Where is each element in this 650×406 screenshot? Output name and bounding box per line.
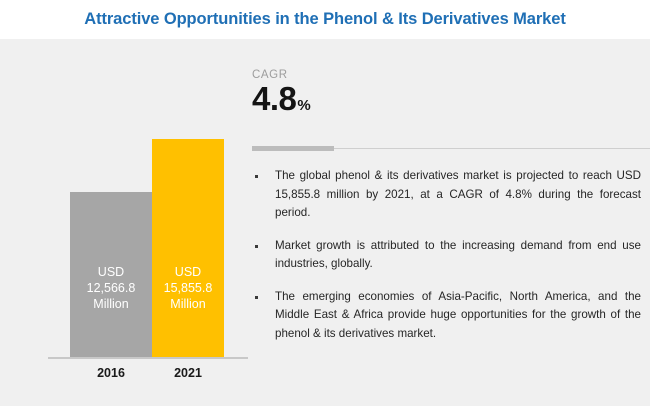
- bar-2016-label-line3: Million: [70, 296, 152, 312]
- cagr-value-row: 4.8 %: [252, 82, 311, 116]
- bullet-point-icon: [255, 175, 258, 178]
- x-axis-label-2021: 2021: [152, 366, 224, 380]
- cagr-unit: %: [297, 97, 310, 114]
- section-divider: [252, 146, 650, 151]
- page-title: Attractive Opportunities in the Phenol &…: [84, 10, 565, 29]
- chart-baseline-axis: [48, 357, 248, 359]
- list-item: The global phenol & its derivatives mark…: [250, 167, 650, 223]
- bullet-list: The global phenol & its derivatives mark…: [250, 167, 650, 357]
- info-panel: CAGR 4.8 % The global phenol & its deriv…: [250, 39, 650, 406]
- bar-2021-label-line2: 15,855.8: [152, 280, 224, 296]
- bar-2021-label: USD 15,855.8 Million: [152, 264, 224, 312]
- x-axis-label-2016: 2016: [70, 366, 152, 380]
- bullet-text: The global phenol & its derivatives mark…: [275, 169, 641, 219]
- cagr-value: 4.8: [252, 82, 296, 116]
- bullet-point-icon: [255, 245, 258, 248]
- slide-header: Attractive Opportunities in the Phenol &…: [0, 0, 650, 39]
- list-item: Market growth is attributed to the incre…: [250, 237, 650, 274]
- bullet-point-icon: [255, 296, 258, 299]
- bar-2016[interactable]: USD 12,566.8 Million: [70, 192, 152, 357]
- bar-2021-label-line1: USD: [152, 264, 224, 280]
- bar-2016-label-line2: 12,566.8: [70, 280, 152, 296]
- slide-body: USD 12,566.8 Million USD 15,855.8 Millio…: [0, 39, 650, 406]
- cagr-block: CAGR 4.8 %: [252, 69, 311, 116]
- slide-root: Attractive Opportunities in the Phenol &…: [0, 0, 650, 406]
- bullet-text: The emerging economies of Asia-Pacific, …: [275, 290, 641, 340]
- bullet-text: Market growth is attributed to the incre…: [275, 239, 641, 271]
- bar-2021[interactable]: USD 15,855.8 Million: [152, 139, 224, 357]
- bar-2021-label-line3: Million: [152, 296, 224, 312]
- list-item: The emerging economies of Asia-Pacific, …: [250, 288, 650, 344]
- bar-2016-inner: USD 12,566.8 Million: [70, 192, 152, 357]
- bar-2016-label-line1: USD: [70, 264, 152, 280]
- bar-2021-inner: USD 15,855.8 Million: [152, 139, 224, 357]
- bar-chart: USD 12,566.8 Million USD 15,855.8 Millio…: [0, 39, 250, 406]
- bar-2016-label: USD 12,566.8 Million: [70, 264, 152, 312]
- divider-accent-segment: [252, 146, 334, 151]
